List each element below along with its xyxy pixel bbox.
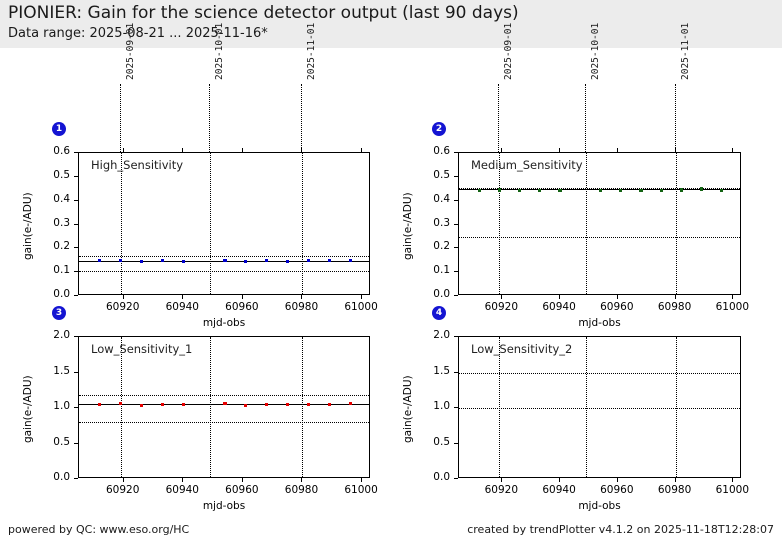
data-point (498, 188, 501, 191)
y-tick-label: 1.5 (410, 365, 450, 377)
y-tick-label: 0.0 (410, 288, 450, 300)
series-title-3: Low_Sensitivity_1 (91, 342, 192, 356)
x-tick-label: 60920 (93, 484, 153, 496)
date-gridline-2025-11-01 (302, 153, 303, 294)
date-tick-extension (120, 84, 121, 152)
y-tick-label: 0.1 (410, 264, 450, 276)
y-tick-mark (454, 224, 458, 225)
x-tick-mark (242, 295, 243, 299)
y-axis-label: gain(e-/ADU) (402, 375, 414, 443)
date-gridline-2025-11-01 (676, 337, 677, 477)
date-axis-label: 2025-11-01 (680, 23, 691, 80)
data-point (328, 403, 331, 406)
y-axis-label: gain(e-/ADU) (22, 375, 34, 443)
x-tick-label: 60940 (529, 484, 589, 496)
x-axis-label: mjd-obs (164, 500, 284, 512)
y-tick-mark (454, 295, 458, 296)
y-axis-label: gain(e-/ADU) (22, 192, 34, 260)
x-axis-label: mjd-obs (540, 317, 660, 329)
x-tick-label: 60980 (645, 301, 705, 313)
x-tick-mark (301, 295, 302, 299)
y-tick-mark (454, 478, 458, 479)
data-point (639, 189, 642, 192)
data-point (286, 403, 289, 406)
x-tick-mark (123, 478, 124, 482)
y-tick-label: 0.6 (30, 145, 70, 157)
data-point (349, 259, 352, 262)
x-tick-mark (732, 295, 733, 299)
y-tick-mark (454, 443, 458, 444)
date-gridline-2025-10-01 (586, 337, 587, 477)
plot-area-3 (78, 336, 370, 478)
data-range-subtitle: Data range: 2025-08-21 ... 2025-11-16* (8, 26, 268, 41)
date-gridline-2025-11-01 (676, 153, 677, 294)
page-title: PIONIER: Gain for the science detector o… (8, 3, 519, 23)
date-gridline-2025-11-01 (302, 337, 303, 477)
x-tick-mark (732, 478, 733, 482)
y-tick-label: 1.0 (410, 400, 450, 412)
panel-badge-2: 2 (432, 122, 446, 136)
data-point (538, 189, 541, 192)
x-tick-label: 60960 (212, 484, 272, 496)
data-point (244, 404, 247, 407)
x-tick-label: 60960 (587, 484, 647, 496)
x-tick-mark (501, 295, 502, 299)
data-point (119, 402, 122, 405)
x-tick-label: 61000 (331, 301, 391, 313)
footer-credit-qc: powered by QC: www.eso.org/HC (8, 523, 189, 536)
x-tick-mark (301, 478, 302, 482)
x-tick-mark-top (242, 148, 243, 152)
x-tick-label: 60960 (587, 301, 647, 313)
panel-badge-4: 4 (432, 306, 446, 320)
y-tick-label: 0.5 (30, 169, 70, 181)
reference-line-upper (79, 256, 369, 257)
data-point (286, 260, 289, 263)
data-point (119, 259, 122, 262)
y-tick-mark (74, 295, 78, 296)
y-tick-label: 0.4 (30, 193, 70, 205)
x-tick-mark (123, 295, 124, 299)
y-tick-label: 0.0 (30, 288, 70, 300)
data-point (619, 189, 622, 192)
series-title-2: Medium_Sensitivity (471, 158, 583, 172)
y-axis-label: gain(e-/ADU) (402, 192, 414, 260)
y-tick-label: 0.4 (410, 193, 450, 205)
y-tick-label: 1.5 (30, 365, 70, 377)
x-tick-mark (675, 478, 676, 482)
x-tick-mark-top (182, 148, 183, 152)
y-tick-label: 0.5 (410, 436, 450, 448)
data-point (98, 259, 101, 262)
x-tick-mark (559, 295, 560, 299)
x-tick-mark-top (501, 148, 502, 152)
x-tick-label: 60940 (529, 301, 589, 313)
x-tick-mark-top (559, 148, 560, 152)
y-tick-mark (454, 152, 458, 153)
x-tick-mark (617, 295, 618, 299)
x-tick-mark (617, 478, 618, 482)
x-tick-mark-top (361, 148, 362, 152)
data-point (140, 404, 143, 407)
x-tick-label: 60960 (212, 301, 272, 313)
y-tick-mark (454, 407, 458, 408)
date-gridline-2025-09-01 (499, 153, 500, 294)
y-tick-label: 0.1 (30, 264, 70, 276)
data-point (182, 403, 185, 406)
y-tick-mark (74, 224, 78, 225)
reference-line-lower (459, 408, 740, 409)
y-tick-label: 0.5 (30, 436, 70, 448)
data-point (223, 402, 226, 405)
y-tick-mark (74, 407, 78, 408)
date-tick-extension (585, 84, 586, 152)
reference-line-upper (79, 395, 369, 396)
data-point (558, 189, 561, 192)
date-axis-label: 2025-09-01 (125, 23, 136, 80)
data-point (244, 260, 247, 263)
x-tick-mark (559, 478, 560, 482)
series-title-4: Low_Sensitivity_2 (471, 342, 572, 356)
x-tick-mark (361, 295, 362, 299)
data-point (720, 189, 723, 192)
x-tick-label: 60980 (645, 484, 705, 496)
x-axis-label: mjd-obs (540, 500, 660, 512)
x-tick-label: 61000 (702, 301, 762, 313)
data-point (265, 403, 268, 406)
data-point (223, 259, 226, 262)
y-tick-label: 0.6 (410, 145, 450, 157)
y-tick-mark (74, 176, 78, 177)
y-tick-label: 2.0 (30, 329, 70, 341)
date-axis-label: 2025-11-01 (306, 23, 317, 80)
reference-line-lower (459, 237, 740, 238)
x-tick-mark (501, 478, 502, 482)
x-tick-mark (182, 295, 183, 299)
x-tick-label: 60980 (271, 301, 331, 313)
x-axis-label: mjd-obs (164, 317, 284, 329)
date-axis-label: 2025-10-01 (214, 23, 225, 80)
y-tick-mark (74, 372, 78, 373)
date-axis-label: 2025-09-01 (503, 23, 514, 80)
reference-line-lower (79, 422, 369, 423)
y-tick-mark (454, 247, 458, 248)
y-tick-mark (74, 247, 78, 248)
y-tick-mark (74, 336, 78, 337)
reference-line-upper (459, 373, 740, 374)
x-tick-mark (242, 478, 243, 482)
date-tick-extension (301, 84, 302, 152)
plot-area-2 (458, 152, 741, 295)
data-point (265, 259, 268, 262)
y-tick-mark (454, 200, 458, 201)
x-tick-mark-top (732, 148, 733, 152)
x-tick-mark-top (617, 148, 618, 152)
date-gridline-2025-09-01 (121, 337, 122, 477)
x-tick-label: 60940 (152, 484, 212, 496)
data-point (161, 259, 164, 262)
x-tick-label: 61000 (331, 484, 391, 496)
y-tick-mark (454, 372, 458, 373)
x-tick-mark (675, 295, 676, 299)
y-tick-label: 0.5 (410, 169, 450, 181)
plot-area-4 (458, 336, 741, 478)
data-point (680, 188, 683, 191)
date-gridline-2025-09-01 (121, 153, 122, 294)
series-title-1: High_Sensitivity (91, 158, 183, 172)
date-axis-label: 2025-10-01 (590, 23, 601, 80)
y-tick-label: 1.0 (30, 400, 70, 412)
y-tick-label: 0.3 (30, 217, 70, 229)
x-tick-label: 60920 (93, 301, 153, 313)
date-tick-extension (675, 84, 676, 152)
data-point (700, 187, 703, 190)
y-tick-mark (74, 271, 78, 272)
y-tick-mark (74, 200, 78, 201)
x-tick-label: 60980 (271, 484, 331, 496)
y-tick-mark (454, 336, 458, 337)
y-tick-label: 0.2 (410, 240, 450, 252)
y-tick-mark (74, 152, 78, 153)
date-gridline-2025-10-01 (210, 153, 211, 294)
panel-badge-3: 3 (52, 306, 66, 320)
y-tick-mark (454, 271, 458, 272)
data-point (349, 402, 352, 405)
reference-line-lower (79, 271, 369, 272)
footer-credit-generator: created by trendPlotter v4.1.2 on 2025-1… (467, 523, 774, 536)
data-point (98, 403, 101, 406)
header-band: PIONIER: Gain for the science detector o… (0, 0, 782, 48)
data-point (478, 189, 481, 192)
data-point (328, 259, 331, 262)
data-point (182, 260, 185, 263)
plot-area-1 (78, 152, 370, 295)
x-tick-mark (361, 478, 362, 482)
x-tick-label: 60920 (471, 301, 531, 313)
y-tick-mark (74, 443, 78, 444)
data-point (599, 189, 602, 192)
data-point (307, 259, 310, 262)
y-tick-label: 0.0 (30, 471, 70, 483)
data-point (140, 260, 143, 263)
data-point (660, 189, 663, 192)
x-tick-label: 60920 (471, 484, 531, 496)
y-tick-label: 0.0 (410, 471, 450, 483)
x-tick-mark (182, 478, 183, 482)
x-tick-mark-top (123, 148, 124, 152)
data-point (307, 403, 310, 406)
data-point (161, 403, 164, 406)
date-gridline-2025-09-01 (499, 337, 500, 477)
y-tick-mark (454, 176, 458, 177)
date-gridline-2025-10-01 (586, 153, 587, 294)
y-tick-label: 2.0 (410, 329, 450, 341)
date-tick-extension (498, 84, 499, 152)
x-tick-label: 60940 (152, 301, 212, 313)
data-point (518, 189, 521, 192)
y-tick-label: 0.3 (410, 217, 450, 229)
panel-badge-1: 1 (52, 122, 66, 136)
x-tick-label: 61000 (702, 484, 762, 496)
date-gridline-2025-10-01 (210, 337, 211, 477)
y-tick-mark (74, 478, 78, 479)
date-tick-extension (209, 84, 210, 152)
y-tick-label: 0.2 (30, 240, 70, 252)
